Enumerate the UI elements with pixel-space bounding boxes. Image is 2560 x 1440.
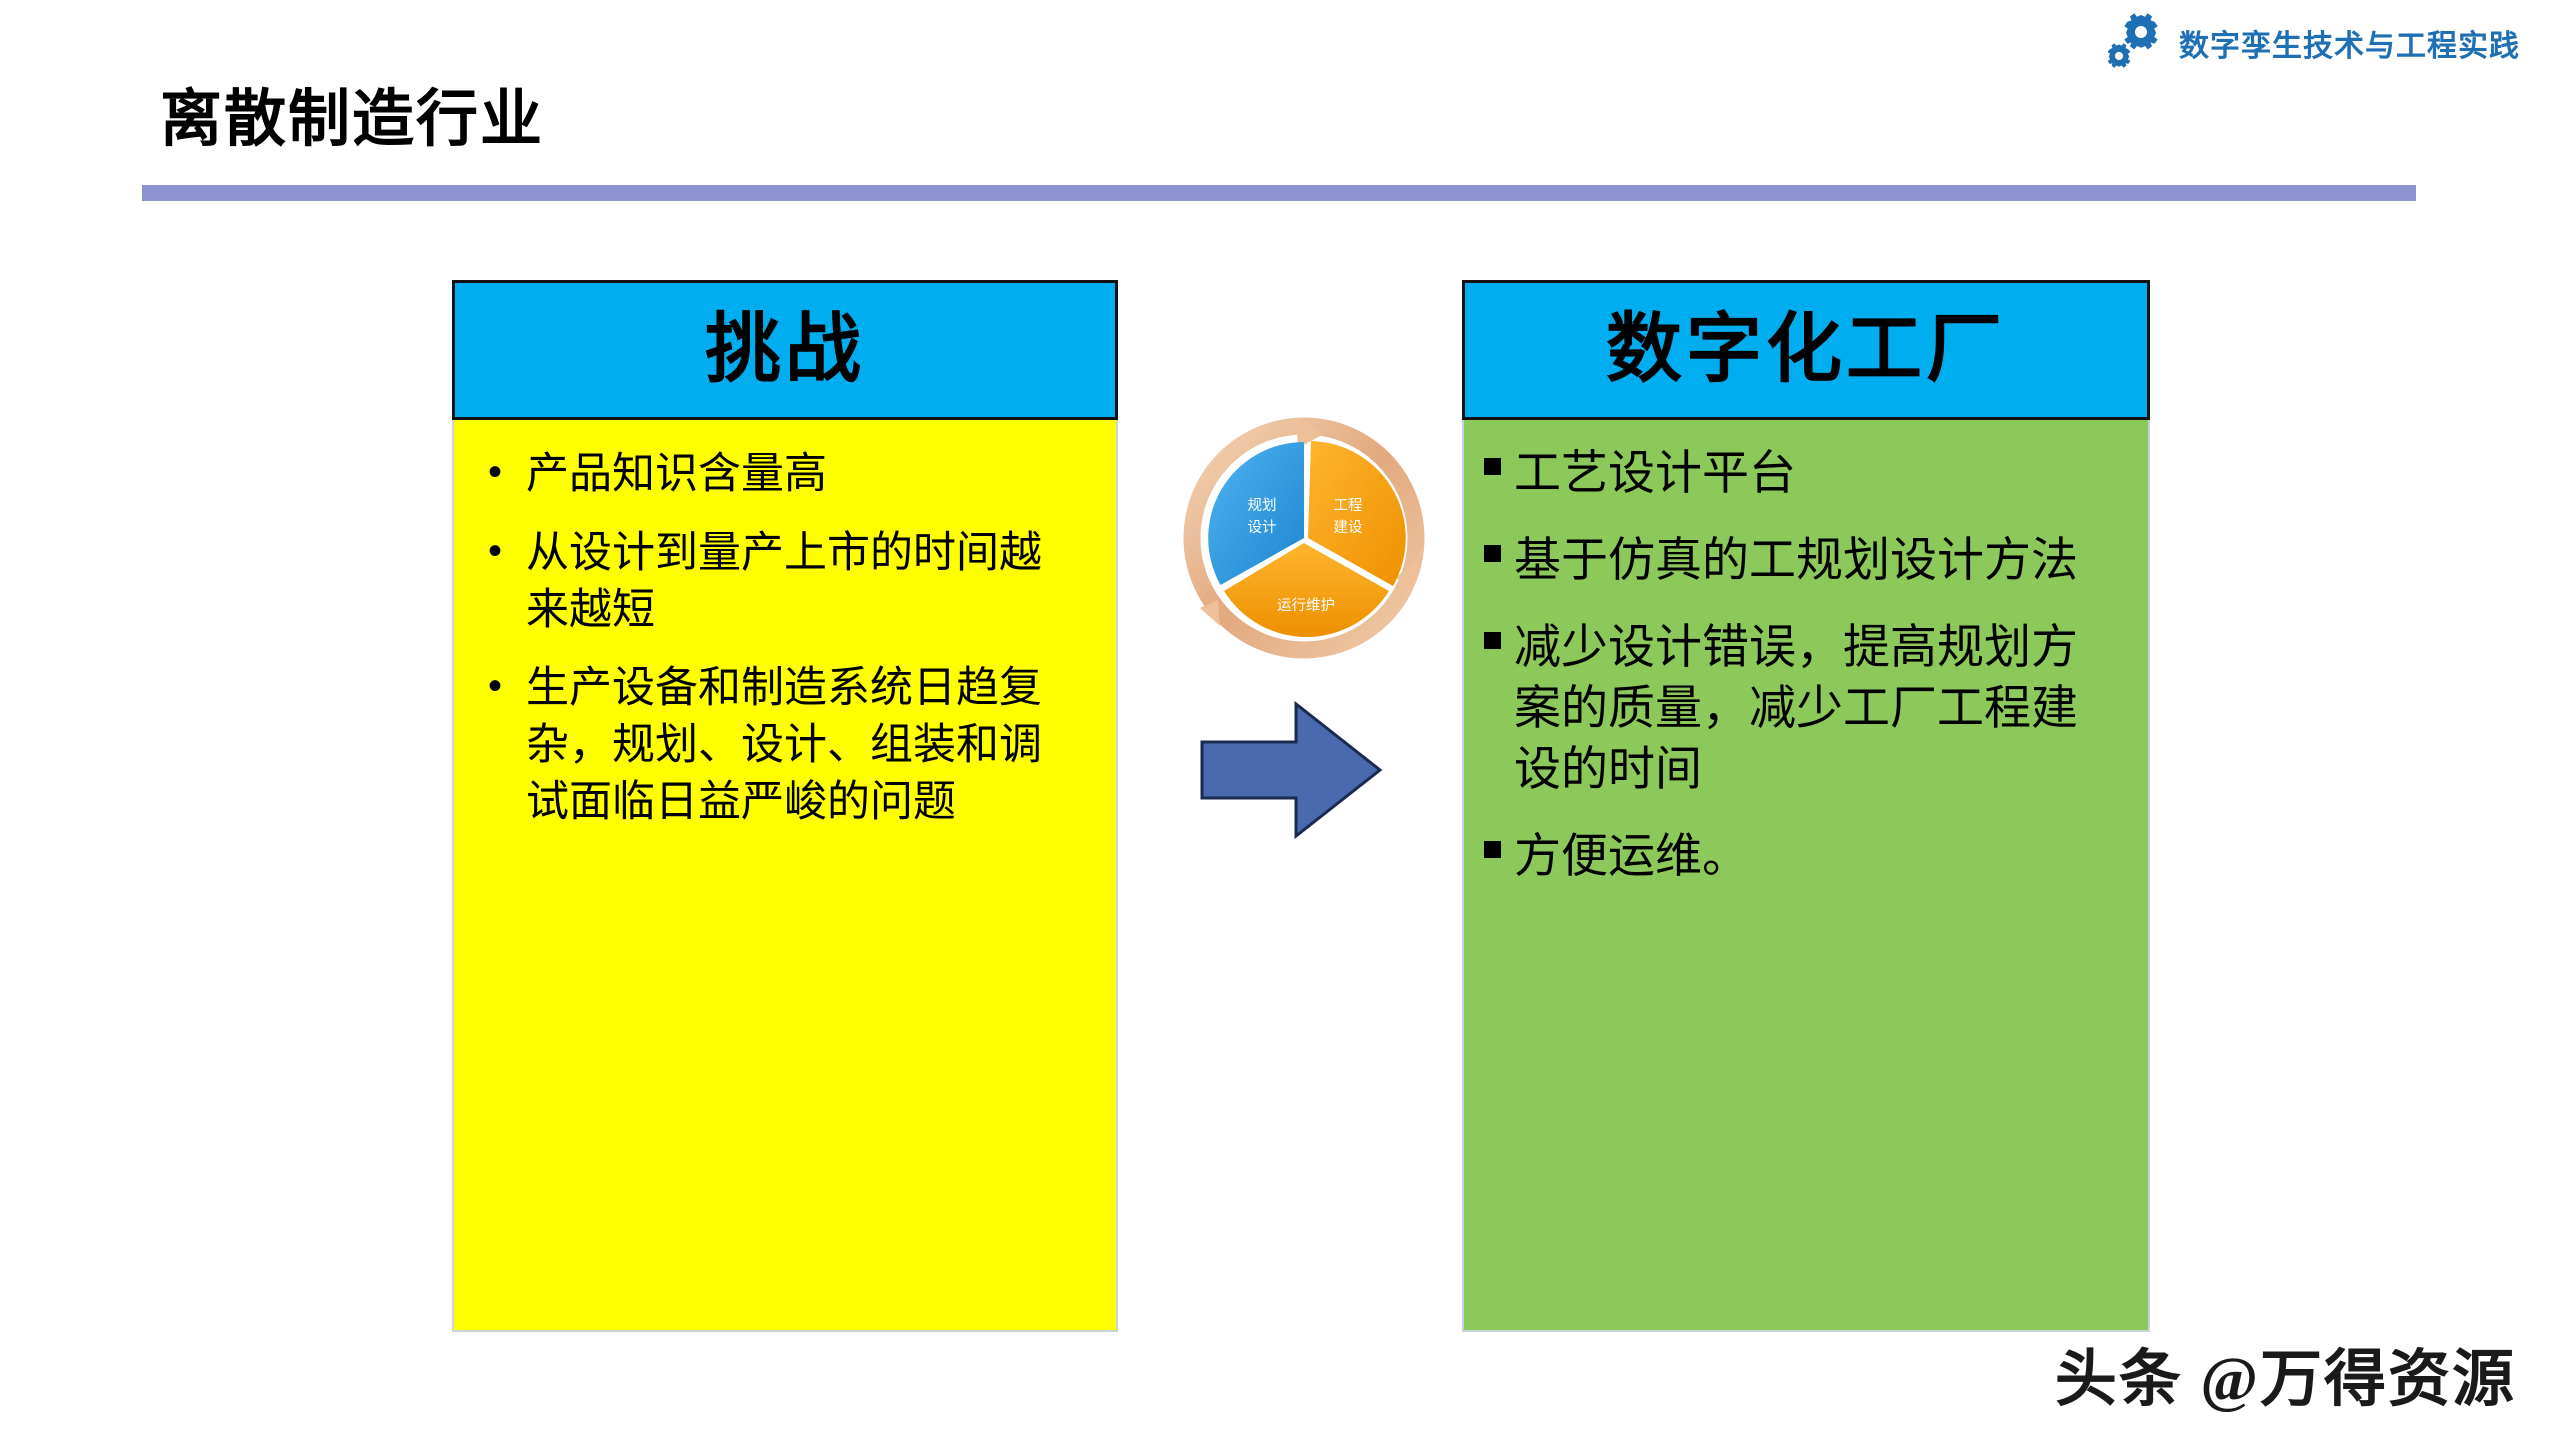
list-item-label: 基于仿真的工规划设计方法: [1514, 529, 2120, 590]
segment-label-planning2: 设计: [1248, 519, 1277, 536]
segment-label-operation: 运行维护: [1277, 597, 1335, 614]
panel-challenge-header: 挑战: [452, 280, 1118, 420]
panel-challenge-title: 挑战: [705, 312, 865, 388]
segment-label-engineering2: 建设: [1334, 519, 1363, 536]
lifecycle-cycle-diagram: 规划 设计 工程 建设 运行维护: [1178, 412, 1430, 664]
list-item-label: 方便运维。: [1514, 825, 2120, 886]
panel-factory-title: 数字化工厂: [1606, 312, 2006, 388]
list-item: • 从设计到量产上市的时间越来越短: [488, 525, 1082, 639]
panel-factory-header: 数字化工厂: [1462, 280, 2150, 420]
list-item-label: 工艺设计平台: [1514, 442, 2120, 503]
list-item: 减少设计错误，提高规划方案的质量，减少工厂工程建设的时间: [1484, 616, 2120, 799]
brand-logo: 数字孪生技术与工程实践: [2103, 12, 2520, 74]
slide-canvas: 数字孪生技术与工程实践 离散制造行业 挑战 • 产品知识含量高 • 从设计到量产…: [0, 0, 2560, 1440]
bullet-square-icon: [1484, 442, 1514, 475]
list-item: 方便运维。: [1484, 825, 2120, 886]
segment-label-planning: 规划: [1248, 497, 1277, 514]
title-divider: [142, 185, 2416, 201]
list-item: 工艺设计平台: [1484, 442, 2120, 503]
bullet-square-icon: [1484, 529, 1514, 562]
list-item: • 产品知识含量高: [488, 446, 1082, 503]
list-item-label: 从设计到量产上市的时间越来越短: [526, 525, 1082, 639]
panel-challenge: 挑战 • 产品知识含量高 • 从设计到量产上市的时间越来越短 • 生产设备和制造…: [452, 280, 1118, 1332]
bullet-square-icon: [1484, 825, 1514, 858]
list-item-label: 生产设备和制造系统日趋复杂，规划、设计、组装和调试面临日益严峻的问题: [526, 660, 1082, 830]
list-item: 基于仿真的工规划设计方法: [1484, 529, 2120, 590]
bullet-dot-icon: •: [488, 660, 526, 713]
panel-digital-factory: 数字化工厂 工艺设计平台 基于仿真的工规划设计方法 减少设计错误，提高规划方案的…: [1462, 280, 2150, 1332]
panel-challenge-body: • 产品知识含量高 • 从设计到量产上市的时间越来越短 • 生产设备和制造系统日…: [452, 420, 1118, 1332]
bullet-dot-icon: •: [488, 446, 526, 499]
list-item-label: 产品知识含量高: [526, 446, 1082, 503]
panel-factory-body: 工艺设计平台 基于仿真的工规划设计方法 减少设计错误，提高规划方案的质量，减少工…: [1462, 420, 2150, 1332]
gears-icon: [2103, 12, 2165, 74]
brand-title: 数字孪生技术与工程实践: [2179, 21, 2520, 65]
bullet-dot-icon: •: [488, 525, 526, 578]
list-item: • 生产设备和制造系统日趋复杂，规划、设计、组装和调试面临日益严峻的问题: [488, 660, 1082, 830]
list-item-label: 减少设计错误，提高规划方案的质量，减少工厂工程建设的时间: [1514, 616, 2120, 799]
page-title: 离散制造行业: [160, 68, 544, 158]
bullet-square-icon: [1484, 616, 1514, 649]
watermark: 头条 @万得资源: [2055, 1328, 2516, 1418]
segment-label-engineering: 工程: [1334, 497, 1363, 514]
right-arrow-icon: [1196, 700, 1386, 840]
